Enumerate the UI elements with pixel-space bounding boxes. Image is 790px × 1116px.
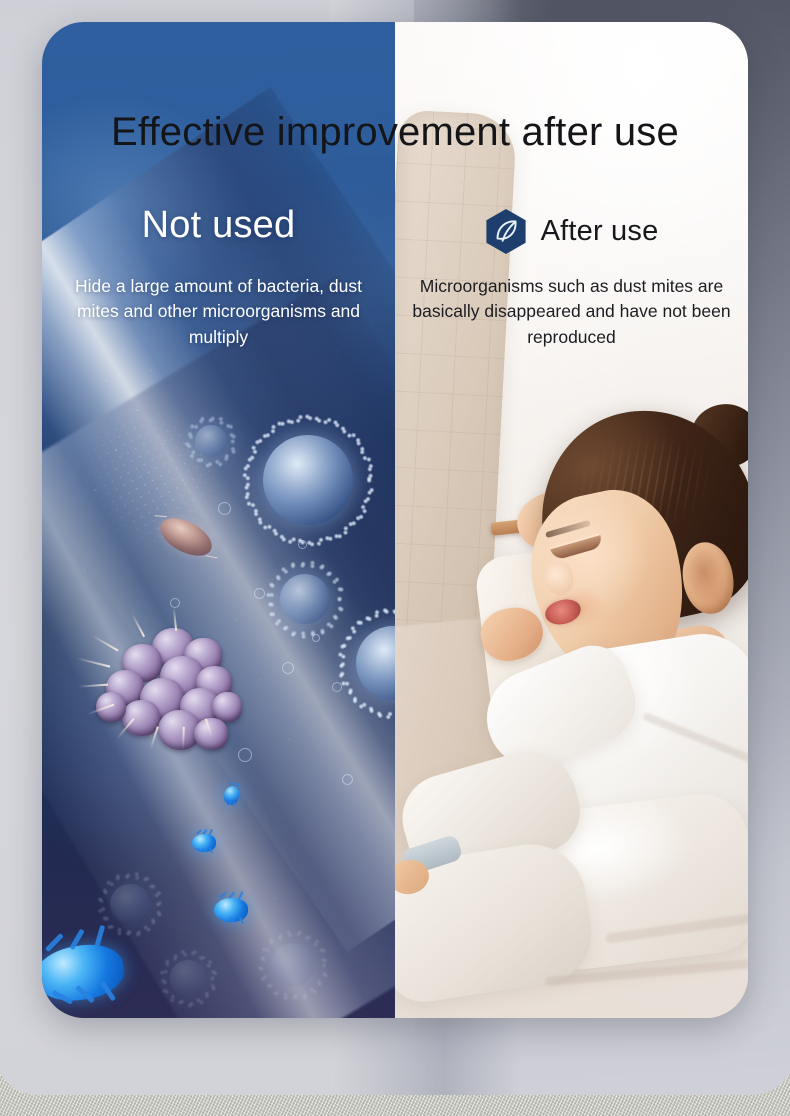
comparison-columns: Not used Hide a large amount of bacteria… [42, 22, 748, 1018]
screenshot-stage: Effective improvement after use Not used… [0, 0, 790, 1116]
leaf-hexagon-icon [485, 208, 527, 255]
comparison-card: Effective improvement after use Not used… [42, 22, 748, 1018]
after-use-heading: After use [541, 215, 659, 248]
not-used-description: Hide a large amount of bacteria, dust mi… [60, 274, 377, 350]
after-use-description: Microorganisms such as dust mites are ba… [403, 274, 740, 350]
not-used-heading: Not used [42, 204, 395, 247]
after-use-heading-row: After use [395, 208, 748, 255]
